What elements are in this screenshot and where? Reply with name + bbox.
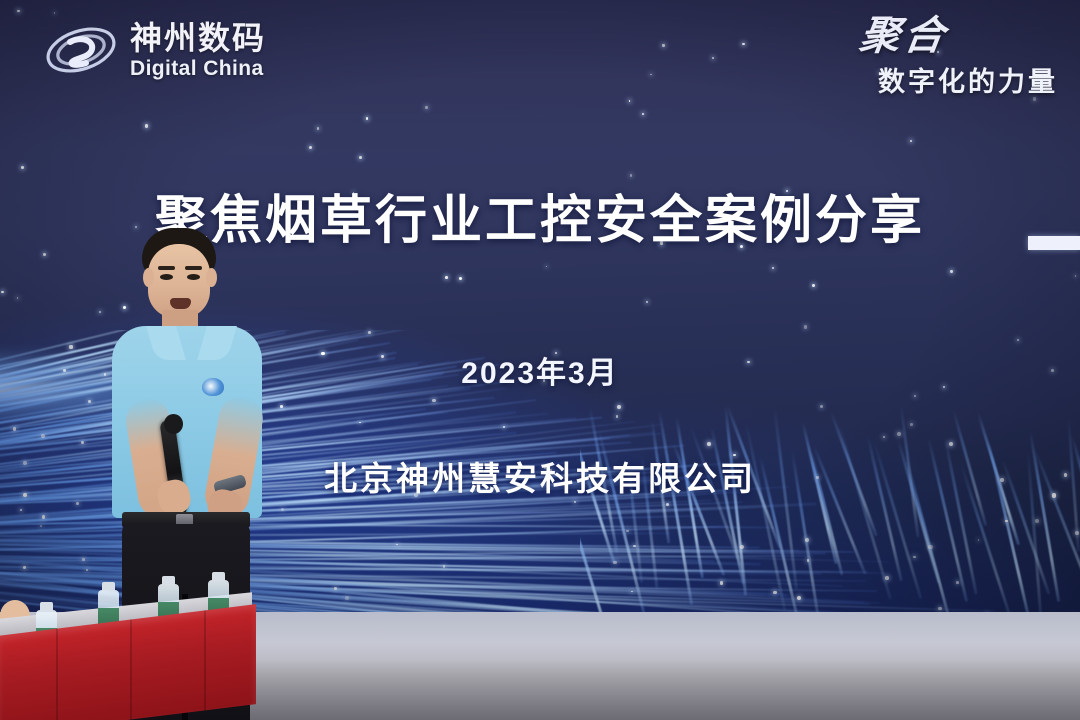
bottle-cap <box>162 576 175 584</box>
light-particle <box>633 545 635 547</box>
speaker-mouth <box>170 298 191 309</box>
light-particle <box>366 117 369 120</box>
light-particle <box>950 270 952 272</box>
cloth-fold <box>56 628 58 720</box>
logo-name-en: Digital China <box>130 58 266 79</box>
light-particle <box>145 124 148 127</box>
light-particle <box>772 267 774 269</box>
light-particle <box>805 538 809 542</box>
light-particle <box>546 266 547 267</box>
light-particle <box>928 545 932 549</box>
light-particle <box>459 277 462 280</box>
light-particle <box>978 539 980 541</box>
light-particle <box>445 276 448 279</box>
light-particle <box>797 596 801 600</box>
speaker-brow-right <box>185 266 202 270</box>
light-particle <box>23 566 26 569</box>
speaker-chest-logo <box>202 378 224 396</box>
light-particle <box>807 559 810 562</box>
speaker-eye-right <box>187 274 200 280</box>
logo-name-cn: 神州数码 <box>130 22 266 54</box>
speaker-eye-left <box>160 274 173 280</box>
light-particle <box>76 502 79 505</box>
digital-china-swirl-icon <box>42 18 120 82</box>
digital-china-logo: 神州数码 Digital China <box>42 18 266 82</box>
light-particle <box>642 113 644 115</box>
speaker-ear-left <box>143 268 154 287</box>
brand-tagline: 数字化的力量 <box>860 60 1058 99</box>
light-particle <box>613 561 617 565</box>
bottle-cap <box>102 582 115 590</box>
light-particle <box>804 325 807 328</box>
event-brand: 聚合 数字化的力量 <box>860 16 1058 99</box>
light-particle <box>812 284 815 287</box>
light-particle <box>17 297 19 299</box>
light-particle <box>956 581 959 584</box>
microphone-head <box>164 414 183 434</box>
light-particle <box>630 174 633 177</box>
light-particle <box>21 166 24 169</box>
fiber-streaks <box>580 370 1080 650</box>
light-particle <box>1075 275 1076 276</box>
light-particle <box>1 291 4 294</box>
light-particle <box>443 565 446 568</box>
light-particle <box>432 399 436 403</box>
light-particle <box>13 427 17 431</box>
brand-calligraphy: 聚合 <box>857 16 951 56</box>
light-particle <box>720 581 723 584</box>
light-particle <box>1075 531 1079 535</box>
light-particle <box>86 569 88 571</box>
foreground-table <box>0 576 260 720</box>
light-particle <box>20 509 22 511</box>
light-particle <box>368 331 371 334</box>
light-particle <box>914 395 916 397</box>
light-particle <box>88 400 91 403</box>
light-particle <box>773 591 777 595</box>
light-particle <box>82 558 85 561</box>
light-particle <box>712 57 714 59</box>
light-particle <box>1035 519 1039 523</box>
light-particle <box>503 426 505 428</box>
speaker-figure <box>96 228 286 620</box>
cloth-fold <box>204 610 206 710</box>
light-particle <box>662 44 664 46</box>
bottle-cap <box>212 572 225 580</box>
light-particle <box>574 501 576 503</box>
light-particle <box>617 405 621 409</box>
light-particle <box>646 301 649 304</box>
light-particle <box>650 74 651 75</box>
light-particle <box>43 253 46 256</box>
light-particle <box>740 545 744 549</box>
speaker-ear-right <box>206 268 217 287</box>
light-particle <box>885 576 889 580</box>
conference-photo: 神州数码 Digital China 聚合 数字化的力量 聚焦烟草行业工控安全案… <box>0 0 1080 720</box>
light-particle <box>40 525 42 527</box>
light-particle <box>359 156 362 159</box>
bottle-cap <box>40 602 53 610</box>
cloth-fold <box>130 619 132 719</box>
light-particle <box>42 515 46 519</box>
speaker-brow-left <box>158 266 175 270</box>
